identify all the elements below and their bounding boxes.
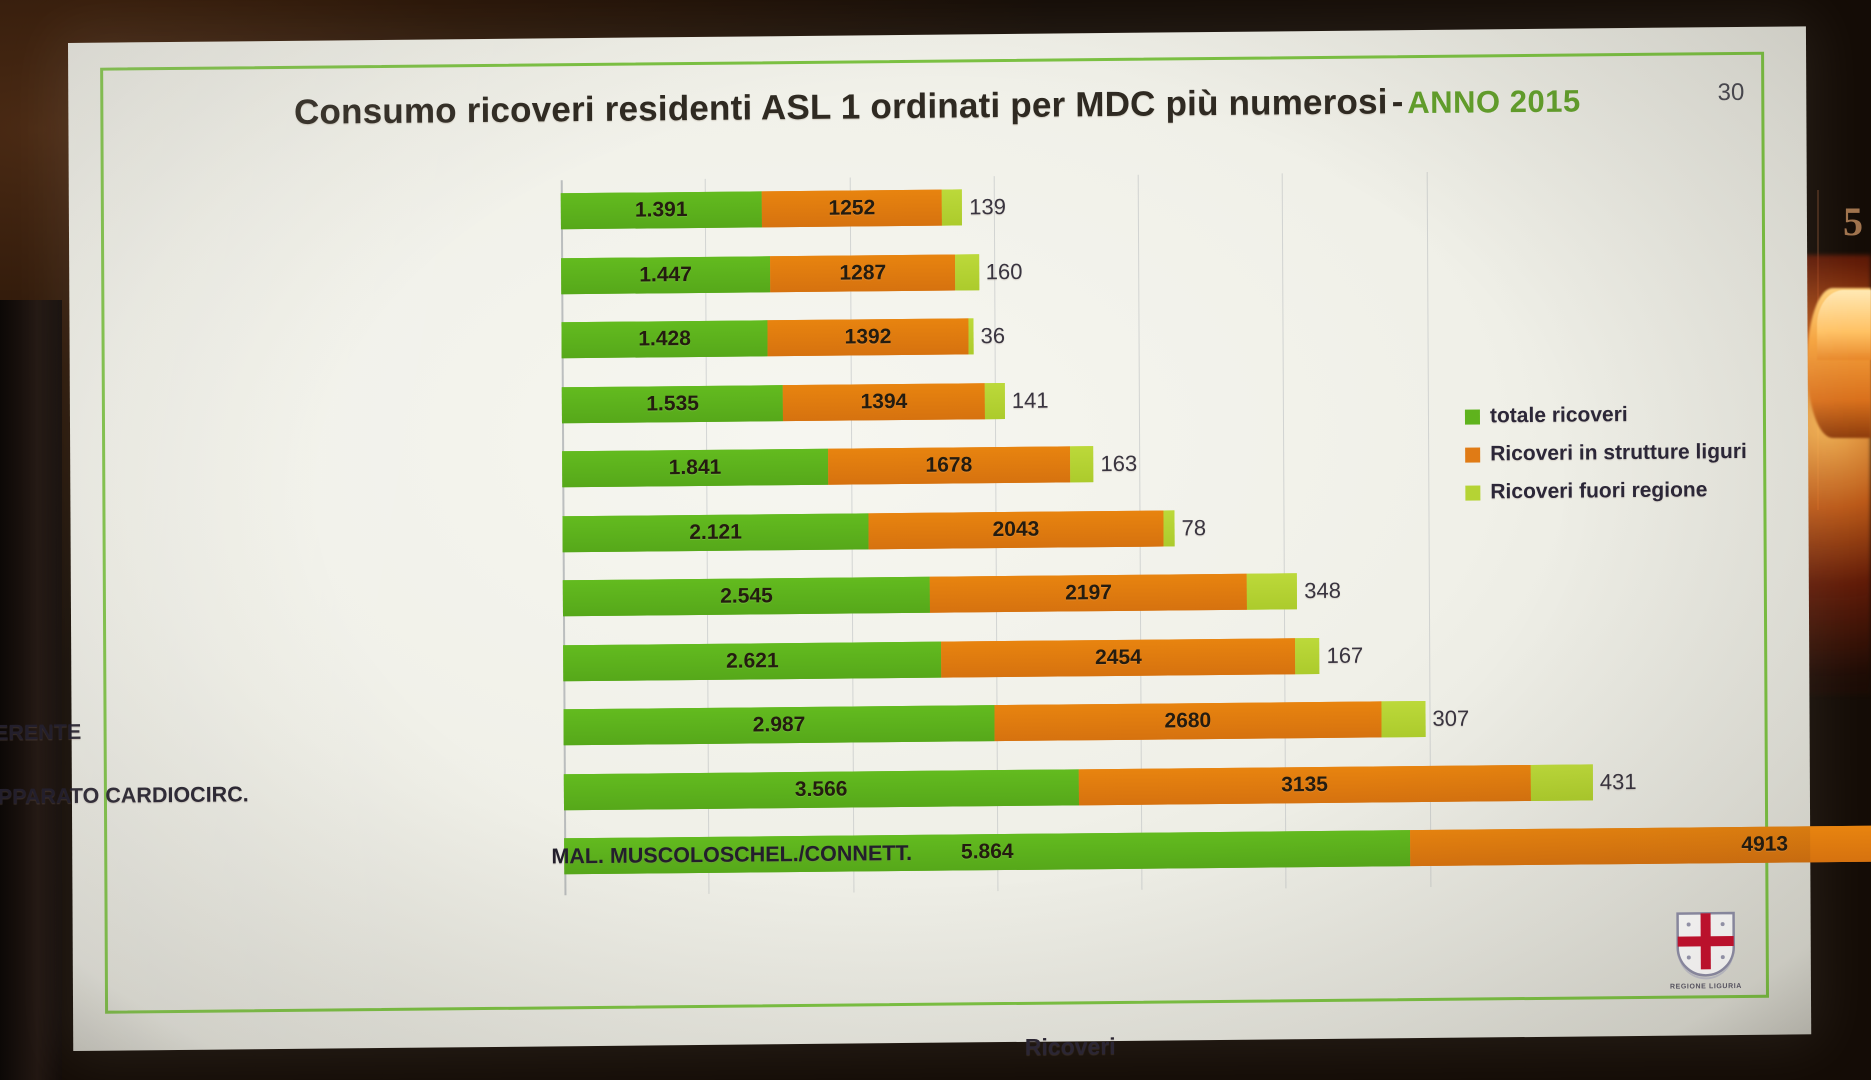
bar-segment-fuori-regione	[1531, 764, 1593, 801]
bar-value-label: 1.428	[638, 327, 691, 352]
bar-segment-liguri: 4913	[1410, 823, 1871, 866]
bar-segment-liguri: 1678	[828, 446, 1070, 484]
bar-segment-liguri: 2043	[868, 510, 1163, 549]
title-year-text: ANNO 2015	[1407, 83, 1581, 120]
bar-value-label: 1392	[845, 325, 892, 349]
wall-number: 5	[1843, 198, 1863, 245]
bar-segment-liguri: 1392	[767, 318, 968, 356]
legend-item: totale ricoveri	[1465, 401, 1795, 428]
bar-value-label: 3.566	[795, 777, 848, 802]
bar-outside-value-label: 141	[1012, 387, 1049, 413]
legend-swatch-icon	[1465, 447, 1480, 462]
bar-row: MALATT. PERIODO NEONATALE1.428139236	[561, 318, 1005, 358]
bar-segment-fuori-regione	[1295, 638, 1319, 674]
bar-value-label: 2.987	[753, 713, 806, 738]
bar-segment-total: 1.535	[562, 385, 784, 423]
bar-row: MALATT. RENE/VIE URINARIE1.8411678163	[562, 446, 1137, 488]
bar-outside-value-label: 307	[1432, 706, 1469, 732]
plot-area: MALATT. EPATOBIL./PANCREAS1.3911252139MA…	[561, 171, 1575, 896]
bar-segment-fuori-regione	[1163, 510, 1174, 546]
legend-swatch-icon	[1465, 409, 1480, 424]
bar-value-label: 5.864	[961, 840, 1014, 865]
bar-row: GRAVIDANZA,PARTO,PUERPERIO2.121204378	[562, 510, 1206, 552]
bar-segment-total: 2.987	[563, 705, 994, 745]
bar-value-label: 1.841	[669, 456, 722, 481]
bar-segment-total: 1.841	[562, 449, 828, 488]
bar-value-label: 2.121	[689, 520, 742, 545]
bar-value-label: 1252	[828, 196, 875, 220]
bar-outside-value-label: 167	[1326, 642, 1363, 668]
bar-row: MAL.PELLE/SOTTOCUT/MAMMELLA1.5351394141	[562, 382, 1049, 423]
bar-segment-total: 3.566	[564, 769, 1079, 810]
bar-value-label: 1.447	[639, 263, 692, 288]
bar-segment-total: 2.121	[562, 513, 868, 552]
bar-value-label: 4913	[1741, 833, 1788, 857]
projected-slide: Consumo ricoveri residenti ASL 1 ordinat…	[68, 26, 1811, 1051]
bar-segment-liguri: 2680	[994, 701, 1381, 741]
legend-item-label: Ricoveri in strutture liguri	[1490, 440, 1747, 466]
shield-icon	[1670, 907, 1742, 982]
bar-outside-value-label: 160	[986, 258, 1023, 284]
bar-outside-value-label: 431	[1600, 768, 1637, 794]
bar-value-label: 1.535	[646, 391, 699, 416]
bar-row: MALATT.APPARATO CARDIOCIRC.3.5663135431	[564, 763, 1637, 809]
legend-item-label: Ricoveri fuori regione	[1490, 478, 1707, 504]
bar-value-label: 1.391	[635, 198, 688, 223]
bar-segment-total: 1.428	[561, 320, 767, 358]
bar-segment-liguri: 2454	[941, 638, 1295, 677]
bar-segment-total: 2.545	[563, 577, 930, 617]
bar-row: MALATT. APPARATO DIGERENTE2.9872680307	[563, 701, 1469, 746]
bar-segment-liguri: 3135	[1078, 764, 1530, 804]
bar-segment-fuori-regione	[1381, 701, 1425, 737]
category-label: MAL. MUSCOLOSCHEL./CONNETT.	[492, 840, 912, 869]
bar-value-label: 3135	[1281, 772, 1328, 796]
bar-segment-liguri: 1252	[761, 190, 942, 228]
bar-row: MAL. MIELOPROLIF/NEOPLASIE1.4471287160	[561, 253, 1022, 293]
bar-value-label: 2.545	[720, 584, 773, 609]
bar-segment-liguri: 1287	[770, 254, 956, 292]
bar-segment-liguri: 1394	[783, 383, 984, 421]
page-number: 30	[1717, 79, 1744, 107]
bar-chart: MALATT. EPATOBIL./PANCREAS1.3911252139MA…	[69, 146, 1811, 953]
bar-segment-total: 1.447	[561, 256, 770, 294]
bar-value-label: 1678	[925, 453, 972, 477]
bar-segment-fuori-regione	[942, 189, 962, 225]
legend-swatch-icon	[1465, 485, 1480, 500]
legend-item: Ricoveri in strutture liguri	[1465, 439, 1795, 466]
chart-legend: totale ricoveriRicoveri in strutture lig…	[1465, 401, 1796, 518]
bar-value-label: 2197	[1065, 581, 1112, 605]
bar-segment-fuori-regione	[984, 383, 1005, 419]
bar-row: MALATT. DEL SISTEMA NERVOSO2.5452197348	[563, 573, 1341, 616]
legend-item: Ricoveri fuori regione	[1465, 477, 1795, 504]
bar-outside-value-label: 36	[981, 323, 1006, 349]
bar-row: MALATT. EPATOBIL./PANCREAS1.3911252139	[561, 189, 1006, 229]
bar-segment-fuori-regione	[1070, 446, 1094, 482]
regione-liguria-logo: REGIONE LIGURIA	[1657, 907, 1756, 1008]
gridlines	[561, 171, 1571, 181]
bar-value-label: 1394	[860, 389, 907, 413]
bar-outside-value-label: 163	[1100, 451, 1137, 477]
bar-outside-value-label: 78	[1182, 515, 1207, 541]
lamp-shade	[1817, 290, 1871, 360]
bar-segment-fuori-regione	[968, 318, 973, 354]
bar-value-label: 2454	[1095, 645, 1142, 669]
room-left-wall	[0, 300, 62, 1080]
bar-value-label: 2043	[993, 517, 1040, 541]
bar-value-label: 1287	[839, 261, 886, 285]
bar-rows: MALATT. EPATOBIL./PANCREAS1.3911252139MA…	[561, 171, 1571, 181]
bar-segment-total: 2.621	[563, 641, 941, 681]
bar-outside-value-label: 348	[1304, 578, 1341, 604]
legend-item-label: totale ricoveri	[1490, 403, 1628, 428]
bar-value-label: 2680	[1164, 709, 1211, 733]
bar-row: MAL. MUSCOLOSCHEL./CONNETT.5.8644913951	[564, 822, 1871, 875]
title-dash: -	[1388, 82, 1408, 121]
bar-outside-value-label: 139	[969, 194, 1006, 220]
bar-row: MALATT. APPARATO RESPIRAT.2.6212454167	[563, 637, 1363, 681]
category-label: MALATT. APPARATO DIGERENTE	[0, 719, 81, 748]
category-label: MALATT.APPARATO CARDIOCIRC.	[0, 782, 249, 811]
bar-segment-liguri: 2197	[930, 574, 1247, 613]
bar-segment-fuori-regione	[1247, 573, 1297, 609]
bar-segment-total: 1.391	[561, 191, 762, 229]
logo-caption: REGIONE LIGURIA	[1657, 983, 1755, 991]
bar-segment-fuori-regione	[956, 254, 979, 290]
bar-value-label: 2.621	[726, 649, 779, 674]
